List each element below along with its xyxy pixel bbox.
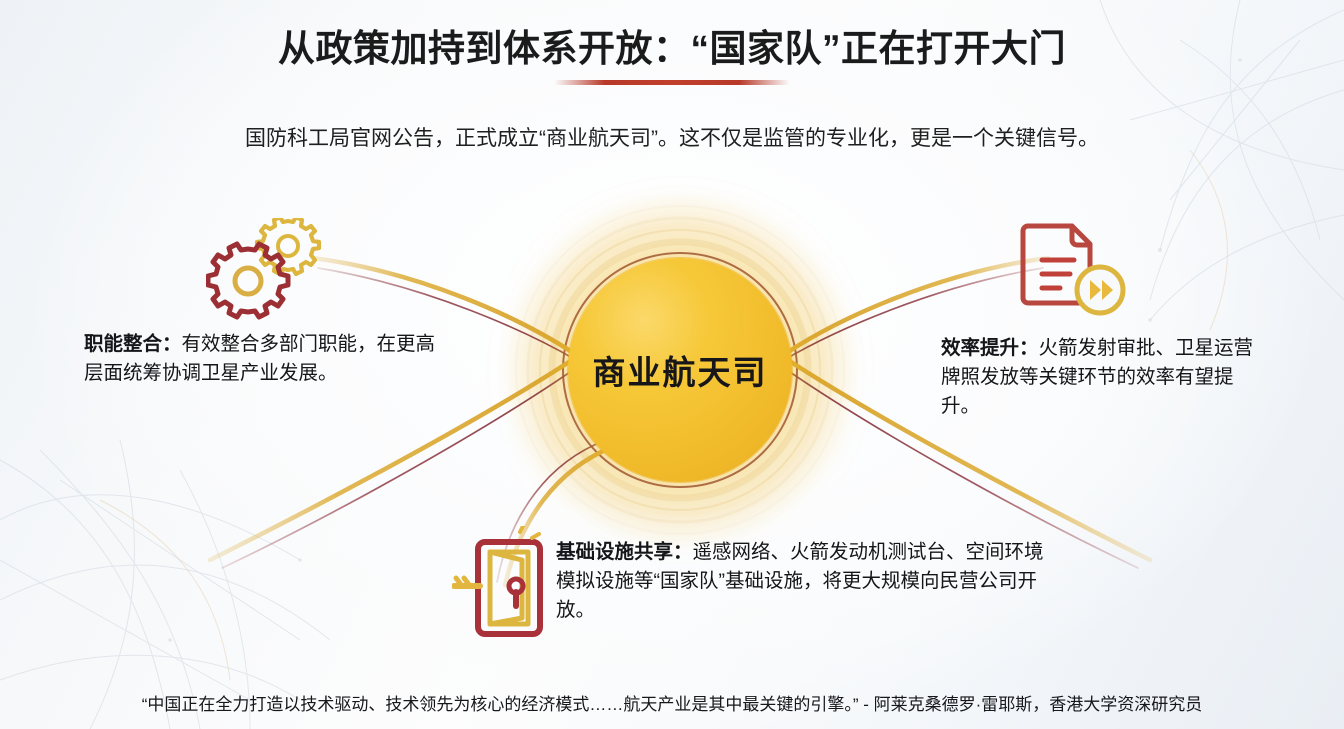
door-key-icon: [452, 526, 564, 649]
branch-bottom-text: 基础设施共享：遥感网络、火箭发动机测试台、空间环境模拟设施等“国家队”基础设施，…: [556, 538, 1046, 625]
branch-left-text: 职能整合：有效整合多部门职能，在更高层面统筹协调卫星产业发展。: [84, 330, 444, 388]
page-title: 从政策加持到体系开放：“国家队”正在打开大门: [0, 18, 1344, 72]
footer-quote: “中国正在全力打造以技术驱动、技术领先为核心的经济模式……航天产业是其中最关键的…: [0, 690, 1344, 715]
gears-icon: [206, 218, 324, 329]
slide-canvas: 从政策加持到体系开放：“国家队”正在打开大门 国防科工局官网公告，正式成立“商业…: [0, 0, 1344, 729]
branch-left-title: 职能整合：: [84, 333, 182, 355]
title-underline-accent: [462, 80, 882, 85]
branch-right-title: 效率提升：: [941, 337, 1039, 359]
branch-bottom: 基础设施共享：遥感网络、火箭发动机测试台、空间环境模拟设施等“国家队”基础设施，…: [556, 538, 1046, 625]
central-node[interactable]: 商业航天司: [568, 258, 792, 482]
branch-right-text: 效率提升：火箭发射审批、卫星运营牌照发放等关键环节的效率有望提升。: [941, 334, 1271, 421]
branch-left: 职能整合：有效整合多部门职能，在更高层面统筹协调卫星产业发展。: [84, 330, 444, 388]
document-fastforward-icon: [1016, 216, 1130, 325]
branch-right: 效率提升：火箭发射审批、卫星运营牌照发放等关键环节的效率有望提升。: [941, 334, 1271, 421]
branch-bottom-title: 基础设施共享：: [556, 541, 693, 563]
page-subtitle: 国防科工局官网公告，正式成立“商业航天司”。这不仅是监管的专业化，更是一个关键信…: [0, 122, 1344, 152]
central-node-label: 商业航天司: [593, 346, 768, 394]
